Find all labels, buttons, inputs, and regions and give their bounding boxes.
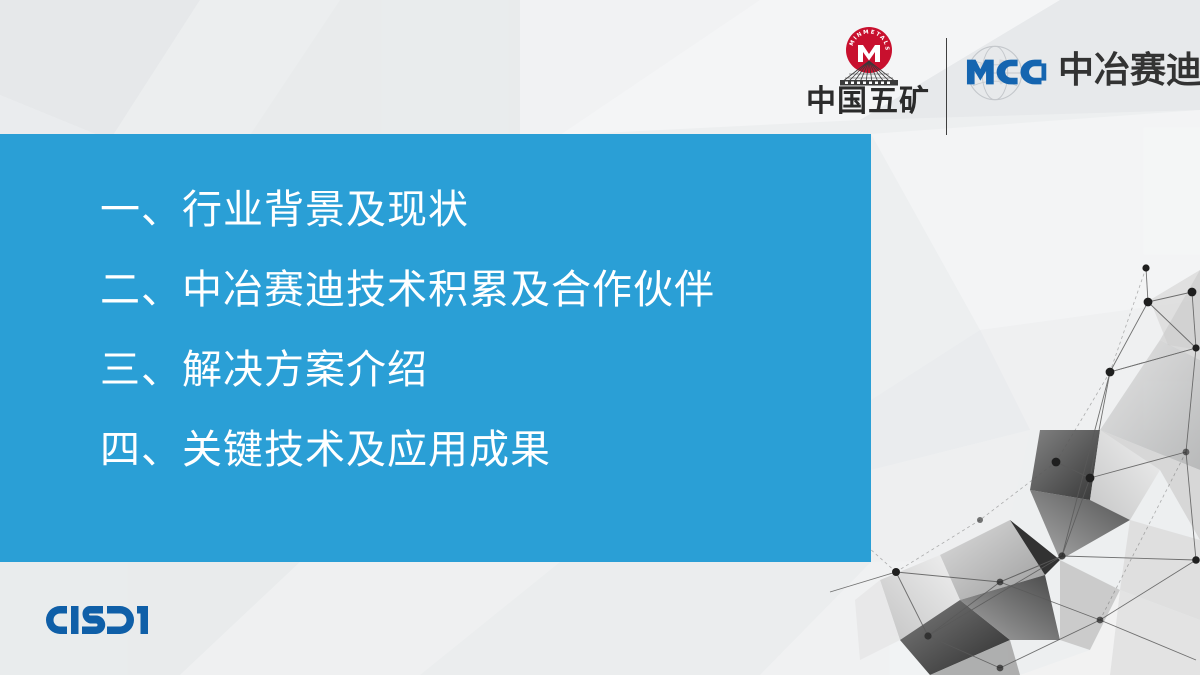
- agenda-item-2[interactable]: 二、中冶赛迪技术积累及合作伙伴: [100, 250, 861, 330]
- mcc-cisdi-logo: 中冶赛迪: [966, 48, 1196, 98]
- mcc-chinese-name: 中冶赛迪: [1058, 50, 1200, 92]
- agenda-item-1[interactable]: 一、行业背景及现状: [100, 170, 861, 250]
- agenda-item-3[interactable]: 三、解决方案介绍: [100, 330, 861, 410]
- minmetals-circle-logo-icon: MINMETALS: [834, 24, 904, 86]
- mcc-wordmark-icon: [966, 56, 1052, 88]
- agenda-panel: 一、行业背景及现状 二、中冶赛迪技术积累及合作伙伴 三、解决方案介绍 四、关键技…: [0, 134, 871, 562]
- header-logo-bar: MINMETALS: [780, 0, 1200, 134]
- presentation-slide: MINMETALS: [0, 0, 1200, 675]
- minmetals-name: 中国五矿: [790, 82, 946, 122]
- minmetals-logo: MINMETALS: [790, 24, 946, 134]
- agenda-list: 一、行业背景及现状 二、中冶赛迪技术积累及合作伙伴 三、解决方案介绍 四、关键技…: [100, 170, 861, 490]
- cisdi-logo: [44, 603, 150, 637]
- agenda-item-4[interactable]: 四、关键技术及应用成果: [100, 410, 861, 490]
- logo-divider: [946, 38, 947, 135]
